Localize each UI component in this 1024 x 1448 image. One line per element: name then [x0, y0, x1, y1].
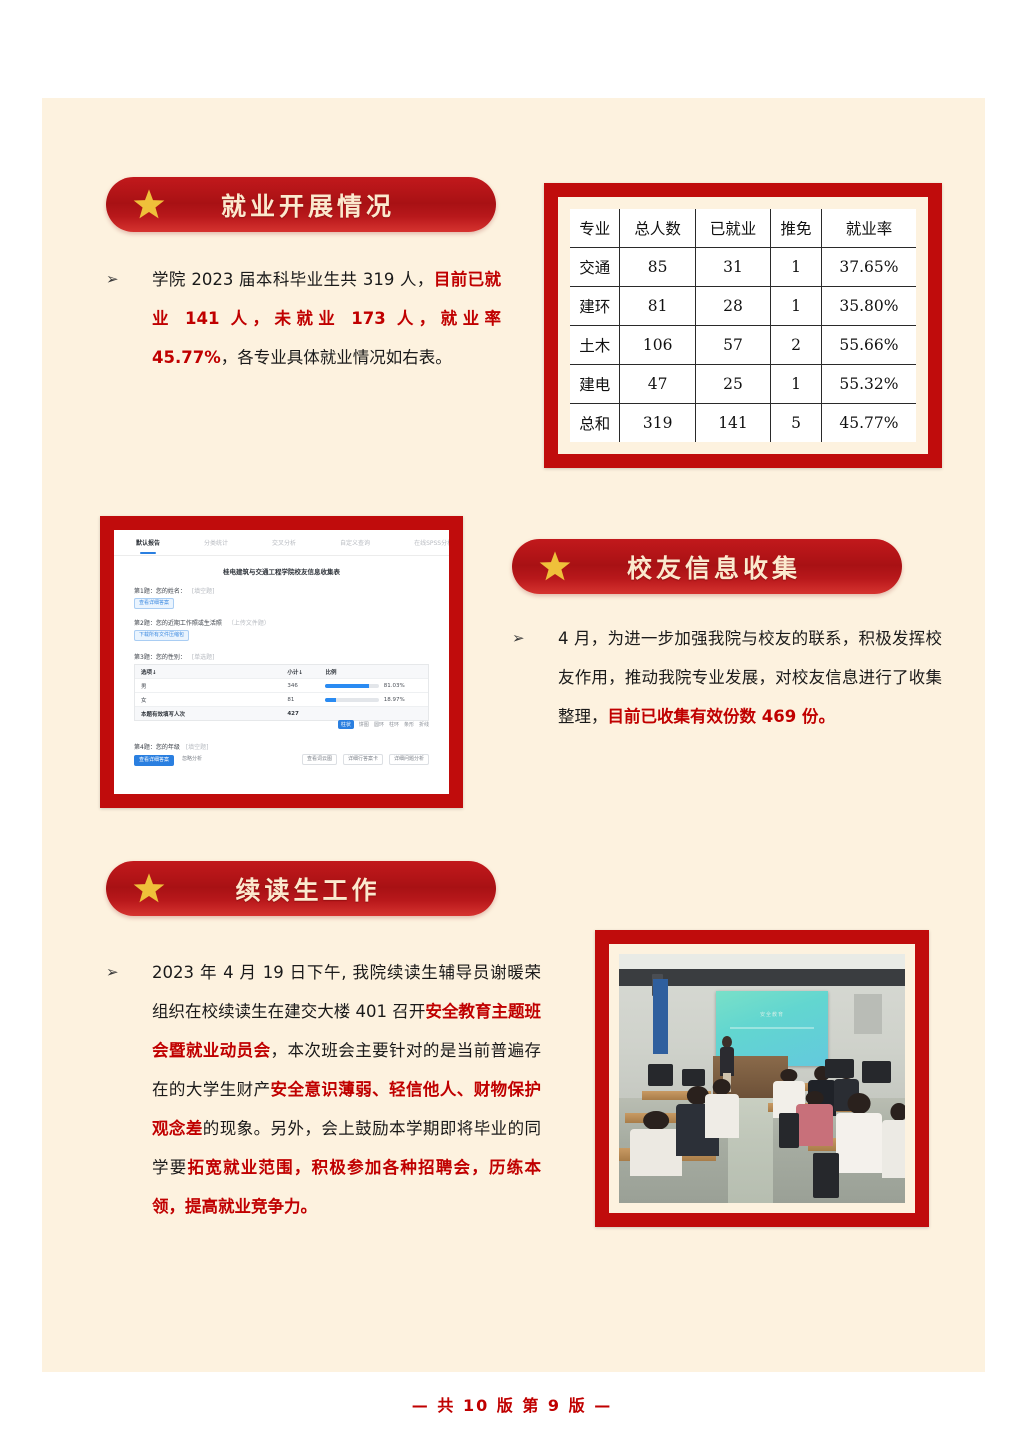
cell-rate: 45.77%: [821, 404, 916, 442]
bullet-arrow-icon: ➢: [106, 260, 119, 299]
q3-text: 您的性别：: [156, 654, 186, 661]
employment-statistics-table: 专业 总人数 已就业 推免 就业率 交通 85 31 1 37.65%: [570, 209, 916, 442]
paragraph-alumni: ➢ 4 月，为进一步加强我院与校友的联系，积极发挥校友作用，推动我院专业发展，对…: [512, 619, 942, 736]
cell-major: 土木: [570, 325, 620, 364]
gender-col-percent: 比例: [325, 668, 428, 676]
bullet-arrow-icon: ➢: [512, 619, 525, 658]
table-row: 交通 85 31 1 37.65%: [570, 247, 916, 286]
chart-option-column[interactable]: 柱环: [389, 721, 399, 728]
cell-employed: 141: [695, 404, 770, 442]
employment-text-2: ，各专业具体就业情况如右表。: [221, 348, 452, 367]
answer-cards-button[interactable]: 详细行答案卡: [343, 754, 383, 765]
cell-recommend: 1: [771, 286, 822, 325]
cell-total: 106: [620, 325, 695, 364]
cell-employed: 25: [695, 365, 770, 404]
cell-rate: 55.66%: [821, 325, 916, 364]
bullet-arrow-icon: ➢: [106, 953, 119, 992]
survey-action-buttons: 查看词云图 详细行答案卡 详细问题分析: [302, 754, 429, 765]
gender-percent-male: 81.03%: [384, 683, 405, 689]
q4-ignore-analysis-link[interactable]: 忽略分析: [178, 755, 206, 764]
q2-meta: （上传文件题）: [228, 620, 270, 627]
section-title-alumni: 校友信息收集: [572, 549, 902, 585]
gender-option-count: 346: [287, 683, 325, 689]
survey-question-3: 第3题：您的性别：[单选题]: [134, 652, 215, 661]
survey-tab-cross[interactable]: 交叉分析: [272, 538, 296, 547]
slide-title: 安全教育: [716, 1011, 828, 1018]
gender-table-header: 选项↓ 小计↓ 比例: [135, 665, 428, 679]
classroom-photo-image: 安全教育: [619, 954, 905, 1203]
col-header-employed: 已就业: [695, 209, 770, 247]
section-header-employment: 就业开展情况: [106, 177, 496, 232]
gender-row-male: 男 346 81.03%: [135, 679, 428, 693]
q1-no: 第1题：: [134, 588, 156, 595]
chart-option-line[interactable]: 折线: [419, 721, 429, 728]
chart-option-bar[interactable]: 柱状: [338, 720, 354, 729]
section-title-employment: 就业开展情况: [166, 187, 496, 223]
gender-option-label: 男: [135, 682, 287, 690]
gender-option-label: 女: [135, 696, 287, 704]
classroom-photo-frame: 安全教育: [595, 930, 929, 1227]
q3-no: 第3题：: [134, 654, 156, 661]
cell-rate: 35.80%: [821, 286, 916, 325]
paragraph-continuing: ➢ 2023 年 4 月 19 日下午, 我院续读生辅导员谢暖荣组织在校续读生在…: [106, 953, 541, 1226]
gender-option-count: 81: [287, 697, 325, 703]
table-row: 土木 106 57 2 55.66%: [570, 325, 916, 364]
q2-no: 第2题：: [134, 620, 156, 627]
table-header-row: 专业 总人数 已就业 推免 就业率: [570, 209, 916, 247]
q2-download-files-button[interactable]: 下载所有文件压缩包: [134, 630, 189, 641]
employment-table-surface: 专业 总人数 已就业 推免 就业率 交通 85 31 1 37.65%: [570, 209, 916, 442]
classroom-photo-mat: 安全教育: [609, 944, 915, 1213]
survey-screenshot: 默认报告 分类统计 交叉分析 自定义查询 在线SPSS分析 桂电建筑与交通工程学…: [114, 530, 449, 794]
gender-statistics-table: 选项↓ 小计↓ 比例 男 346 81.03% 女 81: [134, 664, 429, 721]
gender-footer-count: 427: [287, 711, 325, 717]
survey-question-2: 第2题：您的近期工作照或生活照（上传文件题）: [134, 618, 270, 627]
q4-meta: [填空题]: [186, 744, 209, 751]
cell-major: 交通: [570, 247, 620, 286]
survey-tab-category[interactable]: 分类统计: [204, 538, 228, 547]
gender-bar-female: [325, 698, 378, 702]
survey-tab-custom[interactable]: 自定义查询: [340, 538, 370, 547]
cell-total: 319: [620, 404, 695, 442]
survey-tab-bar: 默认报告 分类统计 交叉分析 自定义查询 在线SPSS分析: [114, 530, 449, 556]
q4-detail-answer-button[interactable]: 查看详细答案: [134, 755, 174, 766]
newsletter-page: 就业开展情况 ➢ 学院 2023 届本科毕业生共 319 人，目前已就业 141…: [42, 98, 985, 1372]
q1-text: 您的姓名：: [156, 588, 186, 595]
col-header-recommend: 推免: [771, 209, 822, 247]
section-header-continuing: 续读生工作: [106, 861, 496, 916]
survey-screenshot-frame: 默认报告 分类统计 交叉分析 自定义查询 在线SPSS分析 桂电建筑与交通工程学…: [100, 516, 463, 808]
survey-tab-spss[interactable]: 在线SPSS分析: [414, 538, 449, 547]
cell-major: 总和: [570, 404, 620, 442]
classroom-photo-clip: 安全教育: [619, 954, 905, 1203]
continuing-highlight-3: 拓宽就业范围，积极参加各种招聘会，历练本领，提高就业竞争力。: [152, 1158, 541, 1216]
cell-total: 81: [620, 286, 695, 325]
gender-option-bar-cell: 81.03%: [325, 683, 428, 689]
col-header-total: 总人数: [620, 209, 695, 247]
cell-employed: 57: [695, 325, 770, 364]
cell-rate: 37.65%: [821, 247, 916, 286]
gender-col-option: 选项↓: [135, 668, 287, 676]
alumni-text-highlight: 目前已收集有效份数 469 份: [608, 707, 819, 726]
survey-question-4: 第4题：您的年级[填空题]: [134, 742, 209, 751]
star-icon: [132, 188, 166, 222]
gender-col-count: 小计↓: [287, 668, 325, 676]
q1-meta: [填空题]: [192, 588, 215, 595]
star-icon: [132, 872, 166, 906]
cell-employed: 31: [695, 247, 770, 286]
cell-rate: 55.32%: [821, 365, 916, 404]
alumni-text-2: 。: [818, 707, 835, 726]
chart-option-donut[interactable]: 圆环: [374, 721, 384, 728]
q4-text: 您的年级: [156, 744, 180, 751]
col-header-major: 专业: [570, 209, 620, 247]
cell-total: 85: [620, 247, 695, 286]
gender-table-footer: 本题有效填写人次 427: [135, 707, 428, 720]
q3-meta: [单选题]: [192, 654, 215, 661]
q1-detail-answer-button[interactable]: 查看详细答案: [134, 598, 174, 609]
q2-text: 您的近期工作照或生活照: [156, 620, 222, 627]
q4-no: 第4题：: [134, 744, 156, 751]
section-header-alumni: 校友信息收集: [512, 539, 902, 594]
cell-major: 建环: [570, 286, 620, 325]
cell-recommend: 1: [771, 365, 822, 404]
table-row: 建电 47 25 1 55.32%: [570, 365, 916, 404]
table-row-total: 总和 319 141 5 45.77%: [570, 404, 916, 442]
chart-option-pie[interactable]: 饼图: [359, 721, 369, 728]
section-title-continuing: 续读生工作: [166, 871, 496, 907]
cell-employed: 28: [695, 286, 770, 325]
cell-recommend: 1: [771, 247, 822, 286]
gender-percent-female: 18.97%: [384, 697, 405, 703]
gender-footer-label: 本题有效填写人次: [135, 710, 287, 718]
employment-text-1: 学院 2023 届本科毕业生共 319 人，: [152, 270, 434, 289]
cell-total: 47: [620, 365, 695, 404]
survey-form-title: 桂电建筑与交通工程学院校友信息收集表: [114, 566, 449, 576]
cell-major: 建电: [570, 365, 620, 404]
star-icon: [538, 550, 572, 584]
col-header-rate: 就业率: [821, 209, 916, 247]
employment-table-frame: 专业 总人数 已就业 推免 就业率 交通 85 31 1 37.65%: [544, 183, 942, 468]
question-analysis-button[interactable]: 详细问题分析: [389, 754, 429, 765]
survey-screenshot-mat: 默认报告 分类统计 交叉分析 自定义查询 在线SPSS分析 桂电建筑与交通工程学…: [114, 530, 449, 794]
gender-bar-male: [325, 684, 378, 688]
survey-question-1: 第1题：您的姓名：[填空题]: [134, 586, 215, 595]
cell-recommend: 2: [771, 325, 822, 364]
table-row: 建环 81 28 1 35.80%: [570, 286, 916, 325]
page-footer: — 共 10 版 第 9 版 —: [0, 1392, 1024, 1416]
wordcloud-button[interactable]: 查看词云图: [302, 754, 337, 765]
gender-row-female: 女 81 18.97%: [135, 693, 428, 707]
gender-option-bar-cell: 18.97%: [325, 697, 428, 703]
paragraph-employment: ➢ 学院 2023 届本科毕业生共 319 人，目前已就业 141 人，未就业 …: [106, 260, 501, 377]
survey-tab-default[interactable]: 默认报告: [136, 538, 160, 547]
chart-type-options: 柱状 饼图 圆环 柱环 条形 折线: [338, 720, 429, 729]
cell-recommend: 5: [771, 404, 822, 442]
employment-table-mat: 专业 总人数 已就业 推免 就业率 交通 85 31 1 37.65%: [558, 197, 928, 454]
chart-option-hbar[interactable]: 条形: [404, 721, 414, 728]
